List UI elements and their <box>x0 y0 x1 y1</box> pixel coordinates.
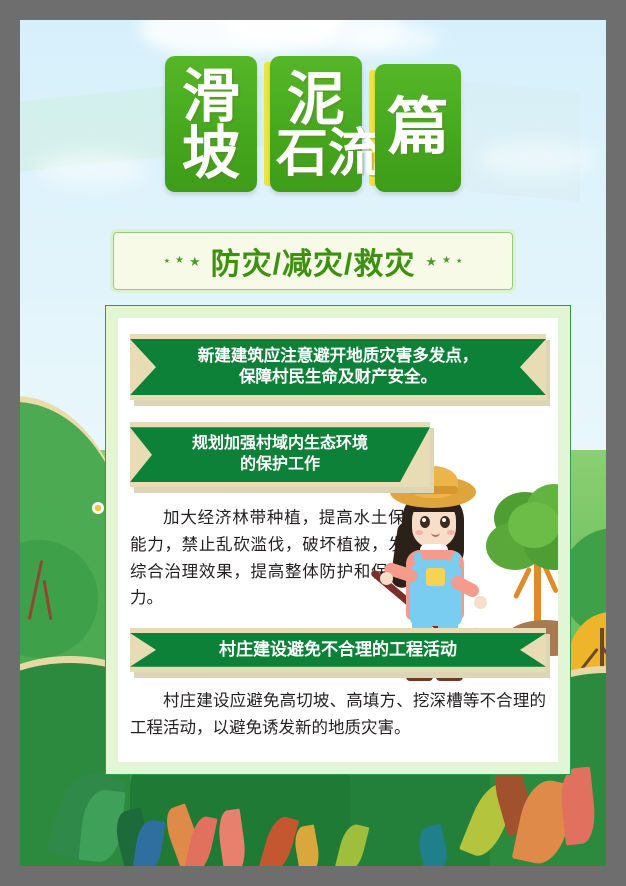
cheek <box>447 530 455 535</box>
tree-branch <box>513 567 532 600</box>
content-panel: 新建建筑应注意避开地质灾害多发点， 保障村民生命及财产安全。 规划加强村域内生态… <box>105 305 571 775</box>
banner-text-block: 规划加强村域内生态环境 的保护工作 <box>130 427 430 482</box>
eye-highlight <box>422 518 426 522</box>
banner-text-block: 村庄建设避免不合理的工程活动 <box>130 633 546 667</box>
spacer <box>130 406 546 422</box>
banner-frame: 规划加强村域内生态环境 的保护工作 <box>130 422 430 487</box>
star-icon: ★ <box>425 255 437 268</box>
section-body-3: 村庄建设应避免高切坡、高填方、挖深槽等不合理的工程活动，以避免诱发新的地质灾害。 <box>130 688 546 741</box>
hand <box>474 596 487 609</box>
poster-title: 滑 坡 泥 石流 篇 <box>20 56 606 192</box>
section-banner-3: 村庄建设避免不合理的工程活动 <box>130 628 546 672</box>
banner-line: 新建建筑应注意避开地质灾害多发点， <box>168 346 508 367</box>
section-banner-2: 规划加强村域内生态环境 的保护工作 <box>130 422 546 487</box>
eye-highlight <box>442 518 446 522</box>
poster-canvas: 滑 坡 泥 石流 篇 ★ ★ ★ 防灾/减灾/救灾 <box>20 20 606 866</box>
cheek <box>415 530 423 535</box>
banner-text-block: 新建建筑应注意避开地质灾害多发点， 保障村民生命及财产安全。 <box>130 339 546 395</box>
banner-line: 保障村民生命及财产安全。 <box>168 367 508 388</box>
subtitle-text: 防灾/减灾/救灾 <box>211 239 416 283</box>
star-decor-right: ★ ★ ★ <box>425 255 462 268</box>
star-icon: ★ <box>442 256 451 266</box>
star-icon: ★ <box>189 255 201 268</box>
title-char: 泥 <box>287 72 345 129</box>
star-icon: ★ <box>164 258 170 265</box>
star-decor-left: ★ ★ ★ <box>164 255 201 268</box>
title-box-pian: 篇 <box>375 64 461 192</box>
title-char: 坡 <box>182 126 240 183</box>
title-box-nishiliu: 泥 石流 <box>270 56 362 192</box>
poster-root: 滑 坡 泥 石流 篇 ★ ★ ★ 防灾/减灾/救灾 <box>0 0 626 886</box>
title-char: 石流 <box>276 129 380 180</box>
banner-frame: 村庄建设避免不合理的工程活动 <box>130 628 546 672</box>
title-box-huapo: 滑 坡 <box>165 56 257 192</box>
flower-icon <box>92 502 104 514</box>
banner-line: 的保护工作 <box>156 455 404 475</box>
star-icon: ★ <box>456 258 462 265</box>
banner-line: 村庄建设避免不合理的工程活动 <box>168 639 508 661</box>
star-icon: ★ <box>175 256 184 266</box>
spacer <box>130 678 546 688</box>
cloud-icon <box>350 24 440 54</box>
subtitle-bar: ★ ★ ★ 防灾/减灾/救灾 ★ ★ ★ <box>113 232 513 290</box>
title-char: 篇 <box>387 98 449 159</box>
hand <box>380 572 393 585</box>
section-banner-1: 新建建筑应注意避开地质灾害多发点， 保障村民生命及财产安全。 <box>130 334 546 400</box>
title-char: 滑 <box>182 69 240 126</box>
banner-frame: 新建建筑应注意避开地质灾害多发点， 保障村民生命及财产安全。 <box>130 334 546 400</box>
title-box-accent <box>264 62 273 186</box>
content-panel-inner: 新建建筑应注意避开地质灾害多发点， 保障村民生命及财产安全。 规划加强村域内生态… <box>118 318 558 762</box>
tree-crown <box>508 502 558 548</box>
poster-subtitle: ★ ★ ★ 防灾/减灾/救灾 ★ ★ ★ <box>20 232 606 290</box>
banner-line: 规划加强村域内生态环境 <box>156 434 404 454</box>
overalls-pocket <box>426 568 445 586</box>
